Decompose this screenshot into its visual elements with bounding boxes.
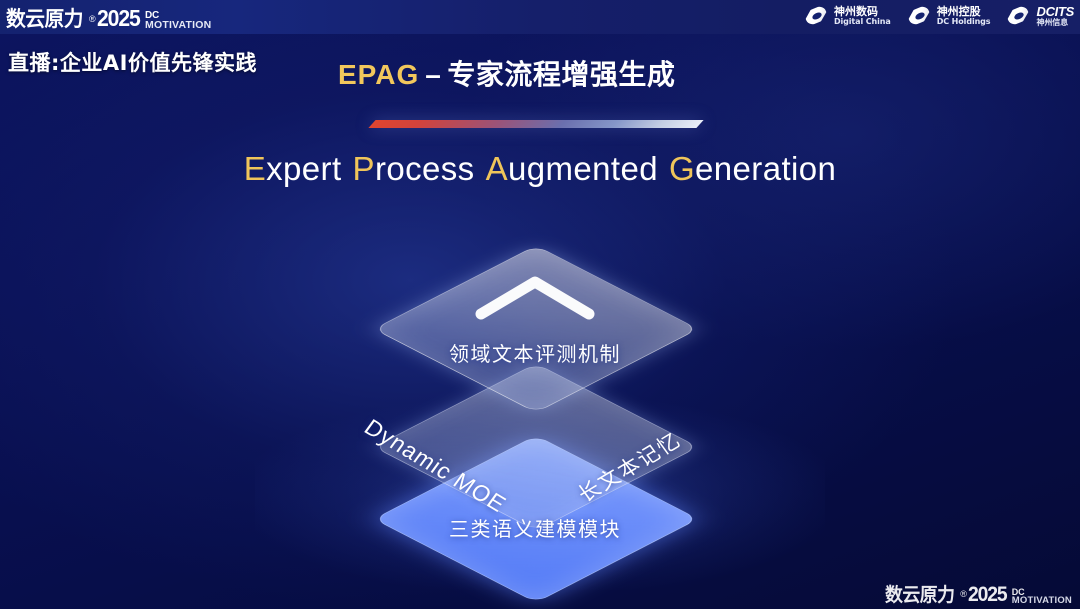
headline-expansion: ExpertProcessAugmentedGeneration [0,150,1080,188]
spiral-logo-icon [1006,4,1032,28]
partner-logo-text: 神州控股 DC Holdings [937,6,991,25]
headline-word-expert: Expert [244,150,342,187]
spiral-logo-icon [804,4,830,28]
page-title: EPAG–专家流程增强生成 [338,53,675,93]
live-broadcast-banner: 直播:企业AI价值先锋实践 [8,47,257,77]
layer-stack-diagram: 领域文本评测机制 Dynamic MOE 长文本记忆 三类语义建模模块 [313,238,757,554]
chevron-up-icon [473,274,597,320]
registered-mark-icon: ® [89,14,96,24]
partner-name-cn: 神州数码 [834,6,891,17]
watermark-cn: 数云原力 [885,586,955,605]
headline-rest: ugmented [508,150,658,187]
headline-initial: P [353,150,375,187]
headline-initial: A [486,150,508,187]
headline-word-process: Process [353,150,475,187]
stack-layer-top [313,238,757,418]
partner-name-en: Digital China [834,18,891,26]
partner-name-cn: 神州控股 [937,6,991,17]
headline-word-augmented: Augmented [486,150,658,187]
event-logo-year: 2025 [97,7,140,30]
header-band: 数云原力® 2025 DC MOTIVATION 神州数码 Digital Ch… [0,0,1080,34]
page-title-acronym: EPAG [338,59,419,90]
partner-logo-dc-holdings: 神州控股 DC Holdings [907,4,991,28]
registered-mark-icon: ® [960,589,967,599]
event-logo-dcm: DC MOTIVATION [145,12,211,30]
watermark-motivation: MOTIVATION [1012,597,1072,605]
partner-logo-digital-china: 神州数码 Digital China [804,4,891,28]
page-title-cn: 专家流程增强生成 [447,58,675,91]
headline-rest: rocess [375,150,475,187]
headline-word-generation: Generation [669,150,836,187]
stack-layer-top-label: 领域文本评测机制 [313,338,757,367]
footer-watermark-logo: 数云原力® 2025 DC MOTIVATION [885,584,1072,605]
stack-layer-bottom-label: 三类语义建模模块 [313,513,757,542]
headline-initial: E [244,150,266,187]
spiral-logo-icon [907,4,933,28]
partner-logo-dcits: DCITS 神州信息 [1006,4,1074,28]
stack-layer-top-face [373,245,698,413]
watermark-year: 2025 [968,584,1007,605]
headline-rest: xpert [266,150,341,187]
partner-logo-row: 神州数码 Digital China 神州控股 DC Holdings DCIT… [804,4,1074,28]
event-logo-cn: 数云原力 [6,9,83,30]
partner-name-cn: 神州信息 [1036,19,1074,27]
headline-rest: eneration [695,150,836,187]
decorative-accent-bar [368,120,703,128]
watermark-dcm: DC MOTIVATION [1012,589,1072,605]
partner-logo-text: DCITS 神州信息 [1036,5,1074,26]
presentation-slide: 数云原力® 2025 DC MOTIVATION 神州数码 Digital Ch… [0,0,1080,609]
event-logo: 数云原力® 2025 DC MOTIVATION [6,2,211,30]
partner-logo-text: 神州数码 Digital China [834,6,891,25]
page-title-dash: – [425,59,441,90]
headline-initial: G [669,150,695,187]
partner-name-en: DC Holdings [937,18,991,26]
event-logo-motivation: MOTIVATION [145,21,211,30]
partner-name-en: DCITS [1036,5,1074,18]
